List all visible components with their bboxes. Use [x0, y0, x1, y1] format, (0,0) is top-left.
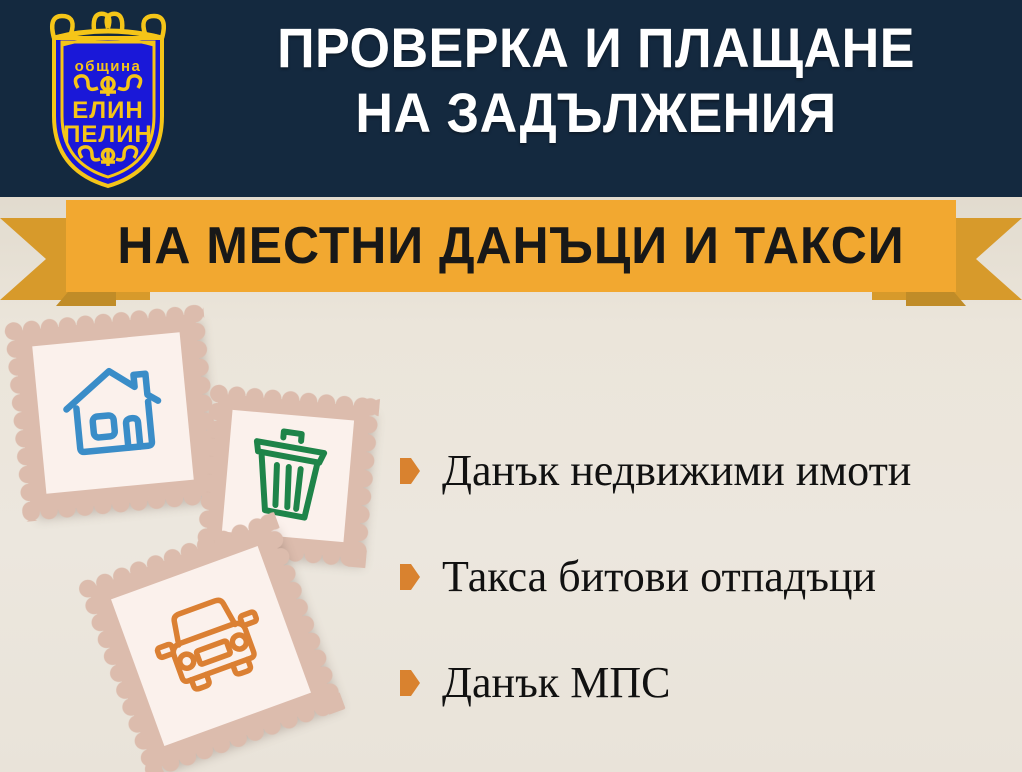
- ribbon-label: НА МЕСТНИ ДАНЪЦИ И ТАКСИ: [117, 216, 904, 276]
- house-icon: [56, 358, 169, 469]
- list-item: Данък недвижими имоти: [400, 418, 1010, 524]
- stamp-face: [111, 546, 311, 746]
- stamp-collage: [0, 300, 420, 772]
- real-estate-stamp: [14, 314, 213, 513]
- ribbon-banner: НА МЕСТНИ ДАНЪЦИ И ТАКСИ: [66, 200, 956, 292]
- title-line-2: НА ЗАДЪЛЖЕНИЯ: [215, 81, 978, 146]
- arrow-bullet-icon: [400, 564, 420, 590]
- header-content: община ЕЛИН ПЕЛИН: [0, 0, 1022, 197]
- coat-of-arms-logo: община ЕЛИН ПЕЛИН: [32, 8, 184, 190]
- poster-canvas: община ЕЛИН ПЕЛИН: [0, 0, 1022, 772]
- arrow-bullet-icon: [400, 670, 420, 696]
- title-line-1: ПРОВЕРКА И ПЛАЩАНЕ: [215, 16, 978, 81]
- car-icon: [142, 581, 280, 710]
- list-item-label: Такса битови отпадъци: [442, 555, 876, 599]
- header-bar: община ЕЛИН ПЕЛИН: [0, 0, 1022, 197]
- list-item: Такса битови отпадъци: [400, 524, 1010, 630]
- subtitle-ribbon: НА МЕСТНИ ДАНЪЦИ И ТАКСИ: [0, 196, 1022, 314]
- tax-types-list: Данък недвижими имоти Такса битови отпад…: [400, 418, 1010, 736]
- svg-text:ПЕЛИН: ПЕЛИН: [63, 121, 153, 148]
- arrow-bullet-icon: [400, 458, 420, 484]
- list-item-label: Данък недвижими имоти: [442, 449, 911, 493]
- list-item-label: Данък МПС: [442, 661, 670, 705]
- stamp-face: [32, 332, 194, 494]
- list-item: Данък МПС: [400, 630, 1010, 736]
- svg-text:община: община: [75, 58, 142, 75]
- page-title: ПРОВЕРКА И ПЛАЩАНЕ НА ЗАДЪЛЖЕНИЯ: [186, 16, 1006, 146]
- svg-text:ЕЛИН: ЕЛИН: [72, 97, 143, 124]
- trash-bin-icon: [242, 424, 334, 528]
